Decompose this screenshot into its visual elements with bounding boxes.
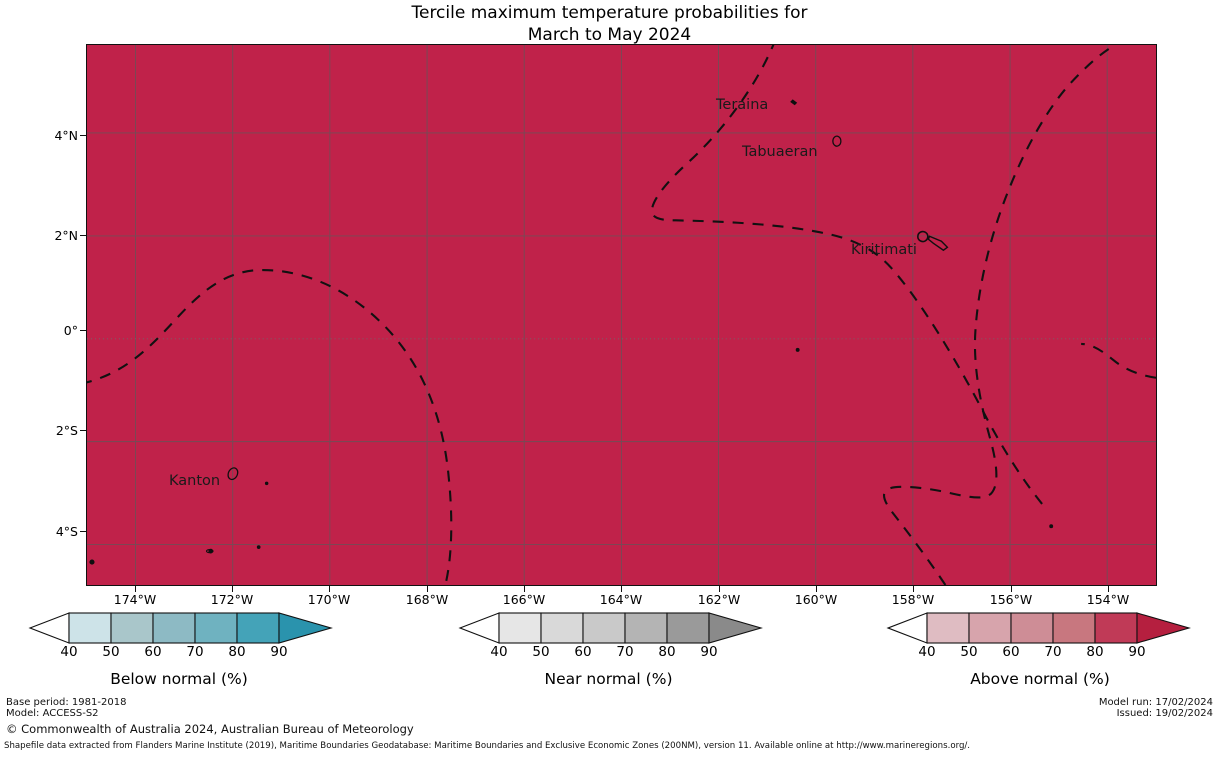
swatch-50-60[interactable] [969, 613, 1011, 643]
cb-below-tick-60: 60 [144, 644, 161, 660]
cb-near-tick-40: 40 [490, 644, 507, 660]
colorbar-above-normal-swatches[interactable] [880, 612, 1200, 644]
x-axis-label-156w: 156°W [990, 592, 1032, 607]
place-label-teraina: Teraina [716, 97, 768, 113]
place-label-kanton: Kanton [169, 473, 220, 489]
y-axis-label-2s: 2°S [56, 423, 78, 438]
cb-above-tick-80: 80 [1086, 644, 1103, 660]
swatch-under-40[interactable] [888, 613, 927, 643]
swatch-over-90[interactable] [709, 613, 761, 643]
cb-below-tick-90: 90 [270, 644, 287, 660]
swatch-60-70[interactable] [583, 613, 625, 643]
cb-near-tick-60: 60 [574, 644, 591, 660]
colorbar-above-normal-title: Above normal (%) [880, 670, 1200, 688]
cb-above-tick-60: 60 [1002, 644, 1019, 660]
x-axis-label-154w: 154°W [1087, 592, 1129, 607]
cb-near-tick-90: 90 [700, 644, 717, 660]
x-axis-label-170w: 170°W [308, 592, 350, 607]
x-axis-label-174w: 174°W [114, 592, 156, 607]
cb-near-tick-80: 80 [658, 644, 675, 660]
copyright-text: © Commonwealth of Australia 2024, Austra… [6, 722, 414, 736]
cb-near-tick-50: 50 [532, 644, 549, 660]
x-axis-label-172w: 172°W [211, 592, 253, 607]
colorbar-below-normal-title: Below normal (%) [14, 670, 344, 688]
y-axis-label-2n: 2°N [54, 228, 78, 243]
swatch-80-90[interactable] [1095, 613, 1137, 643]
model-text: Model: ACCESS-S2 [6, 708, 99, 720]
y-axis-label-4n: 4°N [54, 128, 78, 143]
x-axis-label-160w: 160°W [795, 592, 837, 607]
colorbar-near-normal-title: Near normal (%) [452, 670, 765, 688]
page-title: Tercile maximum temperature probabilitie… [0, 2, 1219, 46]
swatch-70-80[interactable] [625, 613, 667, 643]
y-tick-mark [80, 531, 86, 532]
place-label-tabuaeran: Tabuaeran [742, 144, 818, 160]
swatch-40-50[interactable] [69, 613, 111, 643]
colorbar-near-normal[interactable]: 40 50 60 70 80 90 Near normal (%) [452, 612, 765, 662]
x-axis-label-168w: 168°W [406, 592, 448, 607]
title-line-2: March to May 2024 [0, 24, 1219, 46]
swatch-over-90[interactable] [279, 613, 331, 643]
cb-above-tick-40: 40 [918, 644, 935, 660]
swatch-80-90[interactable] [667, 613, 709, 643]
swatch-60-70[interactable] [153, 613, 195, 643]
map-canvas [87, 45, 1156, 585]
colorbar-near-normal-swatches[interactable] [452, 612, 765, 644]
swatch-70-80[interactable] [195, 613, 237, 643]
swatch-40-50[interactable] [927, 613, 969, 643]
map-plot-area[interactable] [86, 44, 1157, 586]
swatch-50-60[interactable] [111, 613, 153, 643]
swatch-80-90[interactable] [237, 613, 279, 643]
y-tick-mark [80, 430, 86, 431]
cb-below-tick-70: 70 [186, 644, 203, 660]
colorbar-above-normal[interactable]: 40 50 60 70 80 90 Above normal (%) [880, 612, 1200, 662]
cb-above-tick-90: 90 [1128, 644, 1145, 660]
x-axis-label-158w: 158°W [892, 592, 934, 607]
x-axis-label-166w: 166°W [503, 592, 545, 607]
y-axis-label-4s: 4°S [56, 524, 78, 539]
swatch-70-80[interactable] [1053, 613, 1095, 643]
x-axis-label-164w: 164°W [600, 592, 642, 607]
y-tick-mark [80, 330, 86, 331]
swatch-40-50[interactable] [499, 613, 541, 643]
title-line-1: Tercile maximum temperature probabilitie… [0, 2, 1219, 24]
cb-below-tick-50: 50 [102, 644, 119, 660]
colorbar-below-normal[interactable]: 40 50 60 70 80 90 Below normal (%) [14, 612, 344, 662]
swatch-60-70[interactable] [1011, 613, 1053, 643]
swatch-under-40[interactable] [460, 613, 499, 643]
swatch-under-40[interactable] [30, 613, 69, 643]
issued-text: Issued: 19/02/2024 [1117, 708, 1213, 720]
y-tick-mark [80, 135, 86, 136]
colorbar-below-normal-swatches[interactable] [14, 612, 344, 644]
swatch-50-60[interactable] [541, 613, 583, 643]
swatch-over-90[interactable] [1137, 613, 1189, 643]
cb-above-tick-50: 50 [960, 644, 977, 660]
cb-below-tick-80: 80 [228, 644, 245, 660]
cb-above-tick-70: 70 [1044, 644, 1061, 660]
cb-below-tick-40: 40 [60, 644, 77, 660]
place-label-kiritimati: Kiritimati [851, 242, 917, 258]
cb-near-tick-70: 70 [616, 644, 633, 660]
x-axis-label-162w: 162°W [698, 592, 740, 607]
shapefile-attribution-text: Shapefile data extracted from Flanders M… [4, 741, 970, 751]
y-axis-label-0: 0° [64, 323, 78, 338]
y-tick-mark [80, 235, 86, 236]
